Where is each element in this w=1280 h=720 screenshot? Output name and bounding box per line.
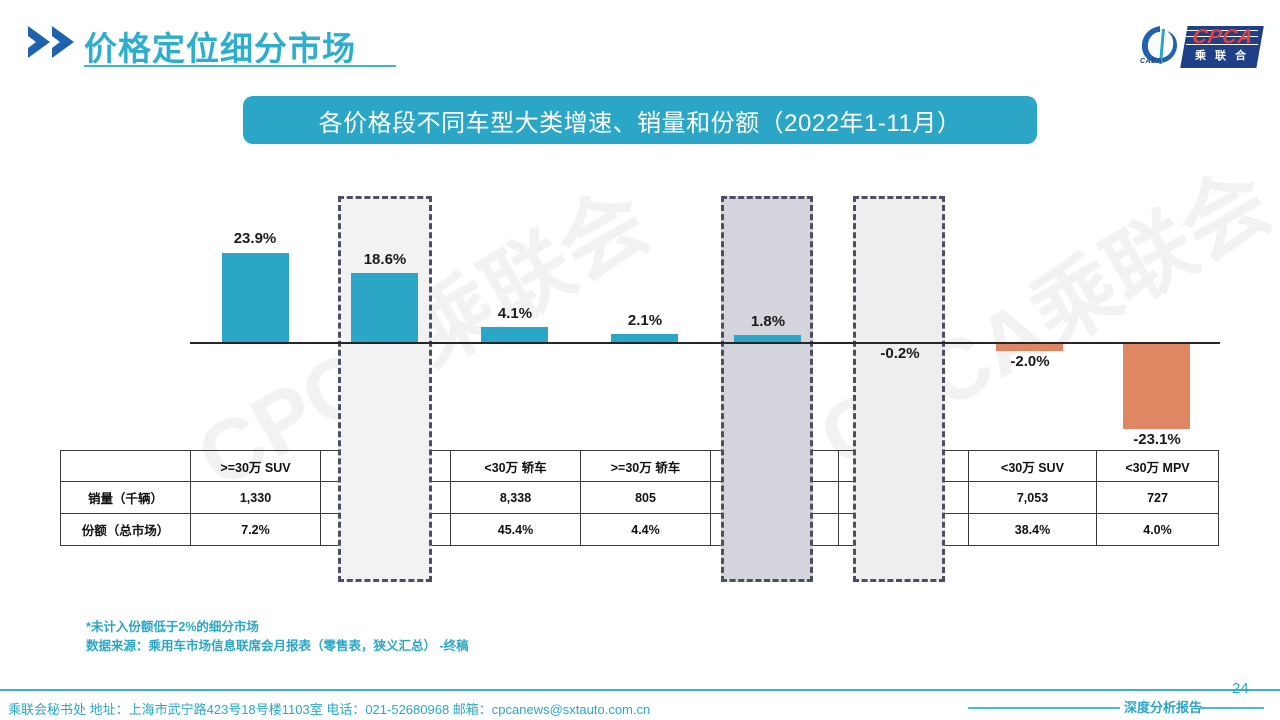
slide-root: CPCA乘联会 CPCA乘联会 价格定位细分市场 CPCA 乘 联 合 CADA… — [0, 0, 1280, 720]
bar-chart: 23.9% 18.6% 4.1% 2.1% 1.8% -0.2% -2.0% -… — [0, 0, 1280, 720]
bar-lt30w-suv — [996, 343, 1063, 351]
zero-axis-line — [190, 342, 1220, 344]
bar-label-lt30w-sedan: 4.1% — [460, 305, 570, 322]
bar-label-ge30w-suv: 23.9% — [200, 230, 310, 247]
bar-label-ge30w-sedan: 2.1% — [590, 312, 700, 329]
bar-ge30w-suv — [222, 253, 289, 342]
bar-total-market — [734, 335, 801, 342]
bar-lt30w-mpv — [1123, 343, 1190, 429]
highlight-col-lt30w — [853, 196, 945, 582]
bar-label-lt30w-mpv: -23.1% — [1102, 431, 1212, 448]
footnote-line-1: *未计入份额低于2%的细分市场 — [86, 618, 469, 637]
bar-label-ge30w: 18.6% — [330, 251, 440, 268]
footnote-line-2: 数据来源：乘用车市场信息联席会月报表（零售表，狭义汇总） -终稿 — [86, 637, 469, 656]
highlight-col-total-market — [721, 196, 813, 582]
footnote: *未计入份额低于2%的细分市场 数据来源：乘用车市场信息联席会月报表（零售表，狭… — [86, 618, 469, 656]
bar-ge30w-sedan — [611, 334, 678, 342]
bar-label-lt30w-suv: -2.0% — [975, 353, 1085, 370]
bar-ge30w — [351, 273, 418, 342]
bar-lt30w-sedan — [481, 327, 548, 342]
bar-label-total-market: 1.8% — [713, 313, 823, 330]
bar-label-lt30w: -0.2% — [845, 345, 955, 362]
